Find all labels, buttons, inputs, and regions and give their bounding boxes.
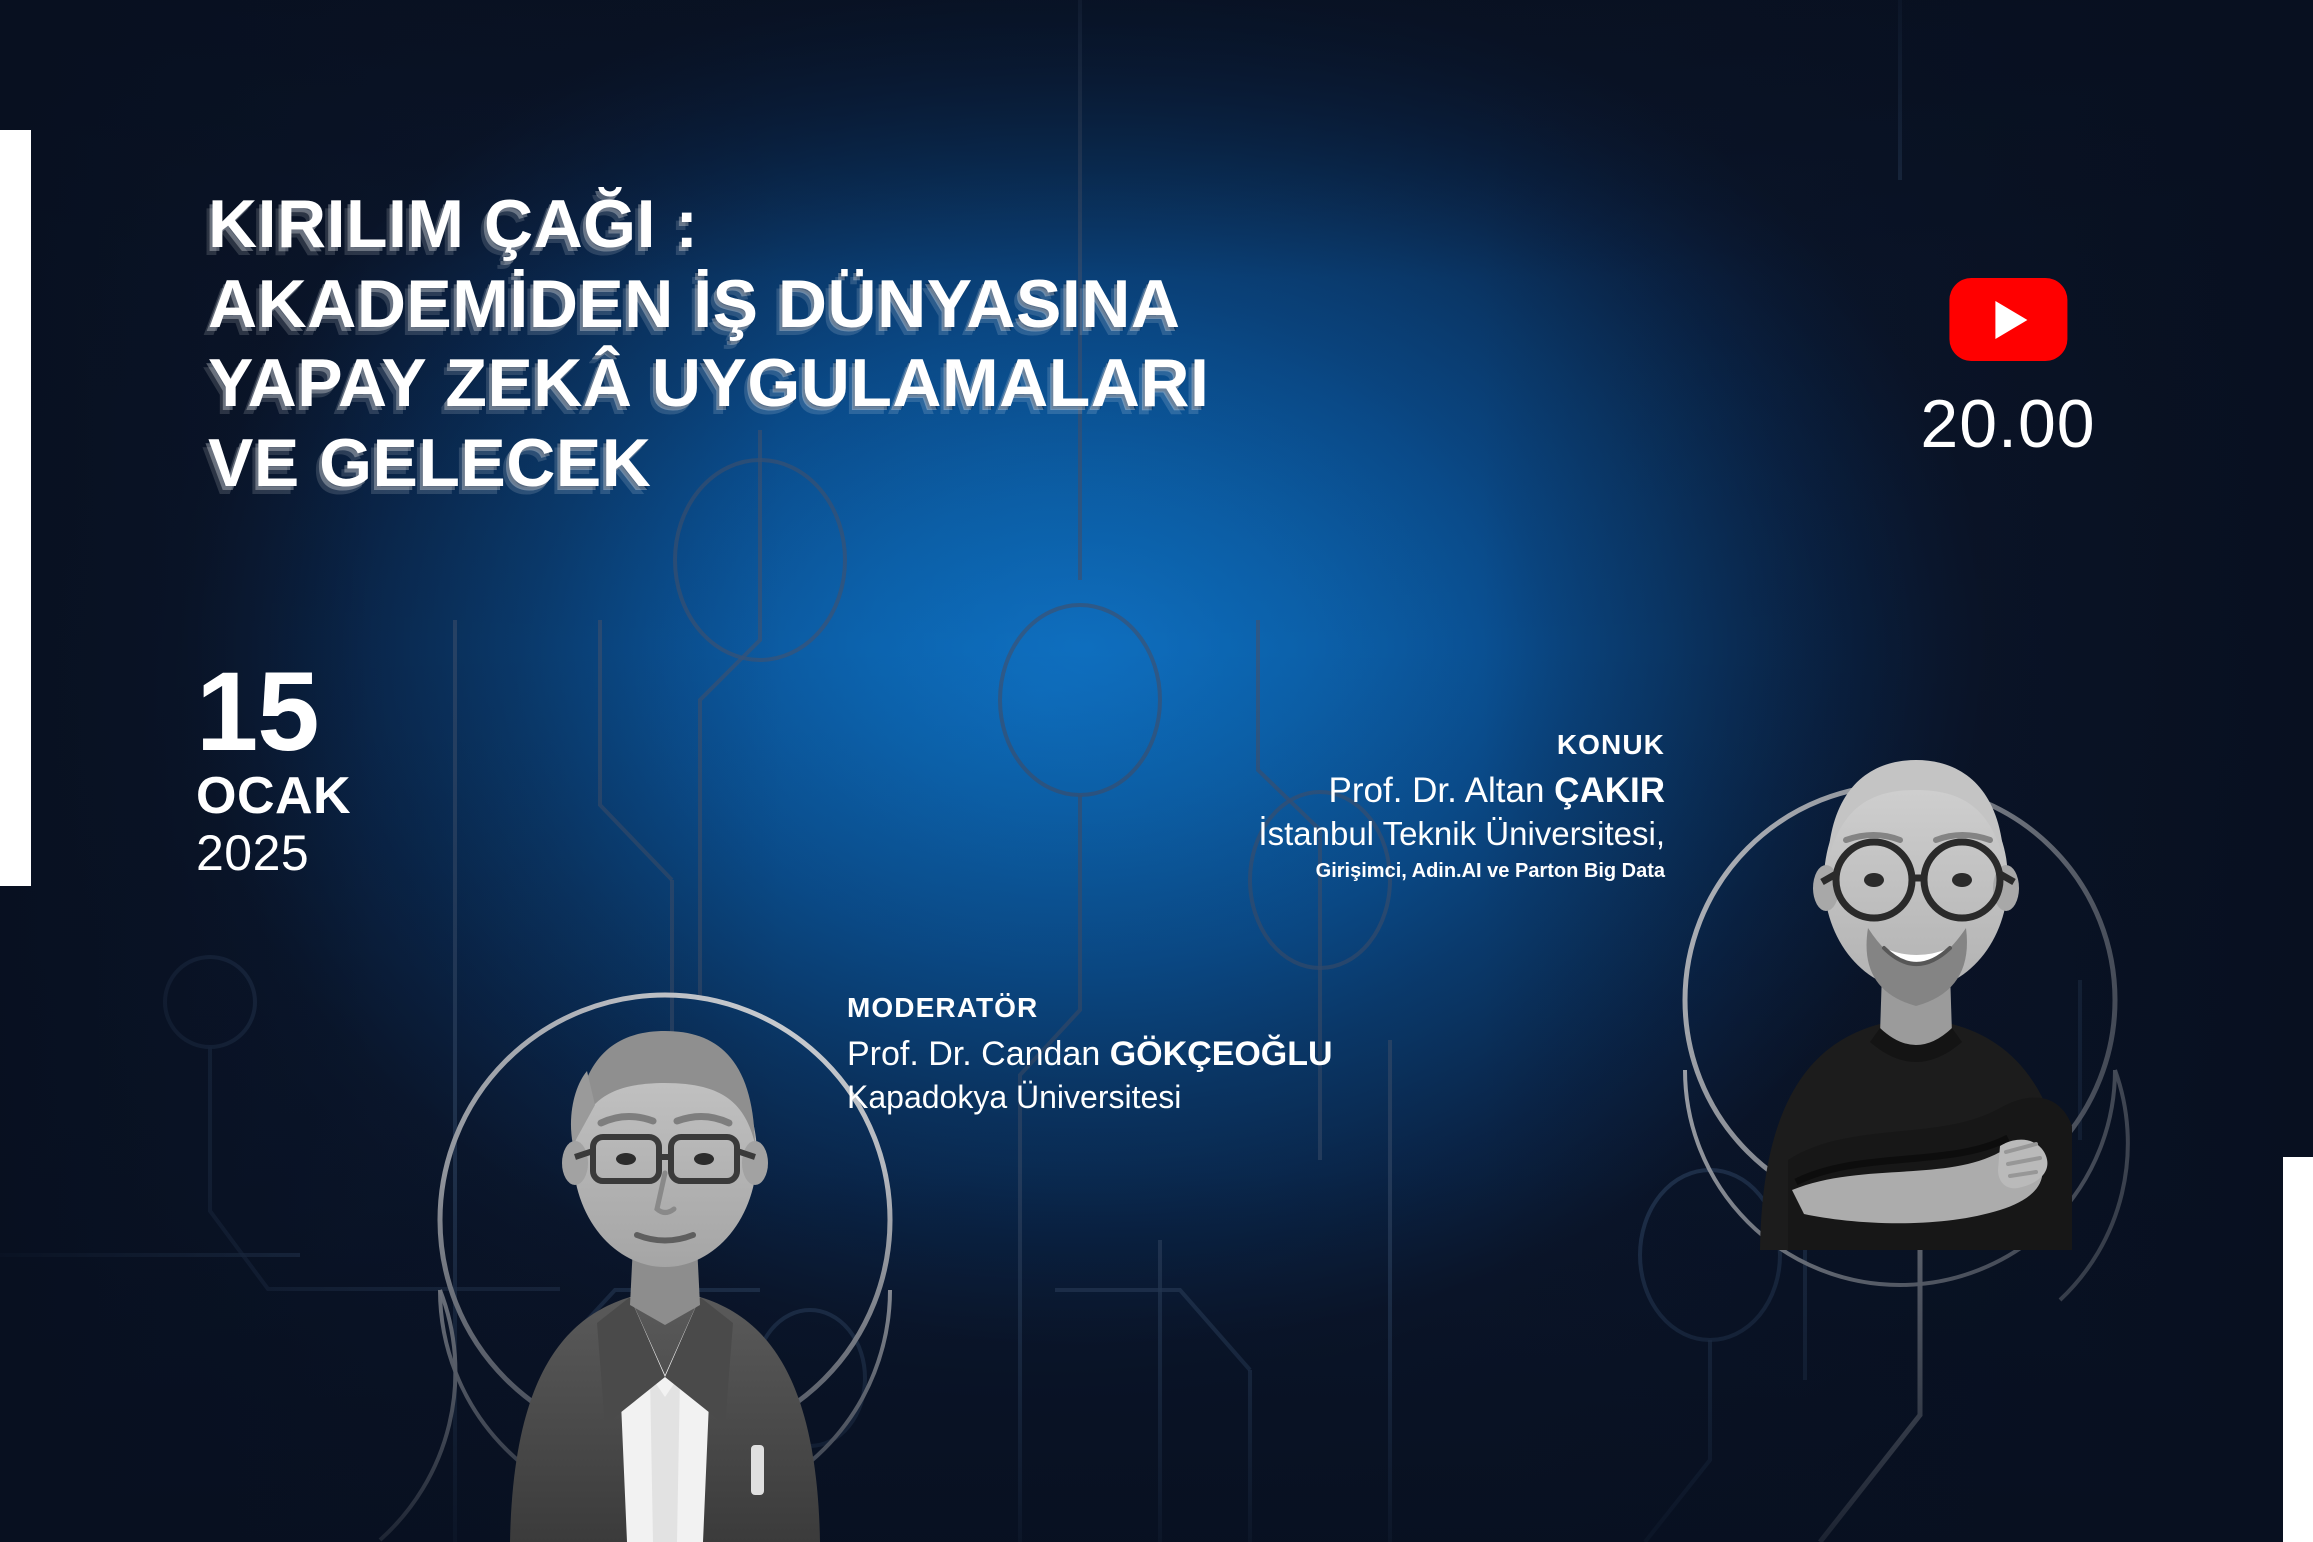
guest-organization: İstanbul Teknik Üniversitesi, bbox=[1165, 813, 1665, 855]
guest-role-label: KONUK bbox=[1165, 727, 1665, 763]
moderator-portrait bbox=[455, 905, 875, 1542]
broadcast-info: 20.00 bbox=[1920, 278, 2095, 463]
page-title: KIRILIM ÇAĞI : AKADEMİDEN İŞ DÜNYASINA Y… bbox=[208, 185, 1628, 503]
guest-name-surname: ÇAKIR bbox=[1554, 771, 1665, 810]
guest-note: Girişimci, Adin.AI ve Parton Big Data bbox=[1165, 858, 1665, 884]
title-line-2: AKADEMİDEN İŞ DÜNYASINA bbox=[208, 265, 1628, 345]
moderator-name-surname: GÖKÇEOĞLU bbox=[1110, 1035, 1333, 1073]
moderator-name: Prof. Dr. Candan GÖKÇEOĞLU bbox=[847, 1032, 1387, 1076]
moderator-organization: Kapadokya Üniversitesi bbox=[847, 1077, 1387, 1119]
guest-name: Prof. Dr. Altan ÇAKIR bbox=[1165, 769, 1665, 813]
event-date-year: 2025 bbox=[196, 825, 351, 881]
event-date-day: 15 bbox=[196, 660, 351, 763]
youtube-icon[interactable] bbox=[1949, 278, 2067, 361]
event-date: 15 OCAK 2025 bbox=[196, 660, 351, 881]
broadcast-time: 20.00 bbox=[1920, 385, 2095, 463]
moderator-role-label: MODERATÖR bbox=[847, 990, 1387, 1026]
guest-name-prefix: Prof. Dr. Altan bbox=[1329, 771, 1555, 810]
event-date-month: OCAK bbox=[196, 767, 351, 825]
decorative-bar-left bbox=[0, 130, 31, 886]
title-line-1: KIRILIM ÇAĞI : bbox=[208, 185, 1628, 265]
title-line-4: VE GELECEK bbox=[208, 424, 1628, 504]
play-triangle-icon bbox=[1995, 301, 2027, 339]
decorative-bar-right bbox=[2283, 1157, 2313, 1542]
moderator-name-prefix: Prof. Dr. Candan bbox=[847, 1035, 1110, 1073]
title-line-3: YAPAY ZEKÂ UYGULAMALARI bbox=[208, 344, 1628, 424]
moderator-block: MODERATÖR Prof. Dr. Candan GÖKÇEOĞLU Kap… bbox=[847, 990, 1387, 1118]
guest-block: KONUK Prof. Dr. Altan ÇAKIR İstanbul Tek… bbox=[1165, 727, 1665, 884]
guest-portrait bbox=[1700, 690, 2130, 1250]
event-poster: KIRILIM ÇAĞI : AKADEMİDEN İŞ DÜNYASINA Y… bbox=[0, 0, 2313, 1542]
